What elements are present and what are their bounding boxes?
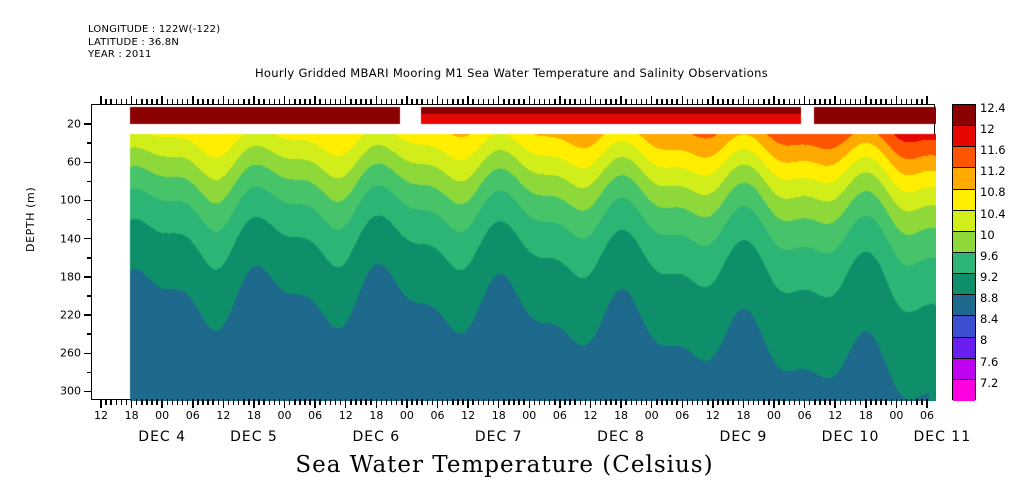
x-axis-top-tick (814, 99, 816, 105)
x-axis-top-tick (666, 99, 668, 105)
x-axis-hour-label: 06 (553, 409, 567, 422)
x-axis-tick-minor (472, 399, 474, 405)
x-axis-tick-minor (717, 399, 719, 405)
x-axis-top-tick (488, 99, 490, 105)
x-axis-hour-label: 00 (400, 409, 414, 422)
x-axis-top-tick (722, 99, 724, 105)
x-axis-tick-minor (840, 399, 842, 405)
x-axis-tick-minor (478, 399, 480, 405)
x-axis-tick-minor (661, 399, 663, 405)
x-axis-tick-minor (580, 399, 582, 405)
x-axis-hour-label: 12 (828, 409, 842, 422)
x-axis-tick-minor (350, 399, 352, 405)
x-axis-top-tick (671, 99, 673, 105)
y-axis-label: 180 (60, 270, 81, 283)
x-axis-day-label: DEC 4 (138, 429, 186, 445)
x-axis-tick-minor (427, 399, 429, 405)
x-axis-tick-minor (279, 399, 281, 405)
x-axis-top-tick (564, 99, 566, 105)
x-axis-tick-minor (891, 399, 893, 405)
x-axis-top-tick (411, 99, 413, 105)
colorbar-segment (953, 190, 975, 211)
y-axis-title: DEPTH (m) (24, 187, 37, 252)
x-axis-top-tick (819, 99, 821, 105)
y-axis-tick-major (84, 200, 92, 202)
colorbar-label: 8.8 (980, 291, 998, 305)
y-axis-tick-minor (87, 219, 92, 221)
x-axis-top-tick (269, 99, 271, 105)
x-axis-hour-label: 18 (247, 409, 261, 422)
x-axis-tick-minor (845, 399, 847, 405)
x-axis-top-tick (676, 99, 678, 105)
x-axis-tick-minor (365, 399, 367, 405)
y-axis-tick-major (84, 314, 92, 316)
x-axis-tick-major (284, 399, 286, 408)
x-axis-tick-minor (554, 399, 556, 405)
x-axis-top-tick (880, 99, 882, 105)
x-axis-day-label: DEC 11 (913, 429, 971, 445)
x-axis-tick-minor (218, 399, 220, 405)
x-axis-tick-minor (182, 399, 184, 405)
x-axis-tick-major (498, 399, 500, 408)
x-axis-top-tick (462, 99, 464, 105)
x-axis-tick-minor (666, 399, 668, 405)
x-axis-tick-minor (457, 399, 459, 405)
colorbar-label: 7.2 (980, 376, 998, 390)
x-axis-tick-minor (177, 399, 179, 405)
x-axis-day-label: DEC 6 (352, 429, 400, 445)
x-axis-top-tick (600, 99, 602, 105)
x-axis-tick-minor (508, 399, 510, 405)
x-axis-tick-minor (870, 399, 872, 405)
temperature-colorbar (952, 104, 976, 400)
x-axis-top-tick (340, 99, 342, 105)
x-axis-tick-minor (432, 399, 434, 405)
x-axis-top-tick (891, 99, 893, 105)
x-axis-hour-label: 06 (920, 409, 934, 422)
colorbar-label: 12 (980, 122, 995, 136)
x-axis-top-tick (401, 99, 403, 105)
x-axis-tick-minor (462, 399, 464, 405)
x-axis-tick-minor (503, 399, 505, 405)
chart-title-text: Hourly Gridded MBARI Mooring M1 Sea Wate… (255, 66, 768, 80)
x-axis-top-tick (727, 99, 729, 105)
x-axis-top-tick (534, 99, 536, 105)
x-axis-tick-minor (656, 399, 658, 405)
x-axis-top-tick (753, 99, 755, 105)
x-axis-tick-minor (789, 399, 791, 405)
x-axis-top-tick (702, 99, 704, 105)
x-axis-day-label: DEC 10 (822, 429, 880, 445)
x-axis-tick-major (743, 399, 745, 408)
x-axis-top-tick (656, 99, 658, 105)
x-axis-tick-minor (921, 399, 923, 405)
x-axis-top-tick (896, 96, 898, 105)
x-axis-top-tick (804, 96, 806, 105)
x-axis-tick-minor (141, 399, 143, 405)
x-axis-tick-minor (116, 399, 118, 405)
colorbar-segment (953, 105, 975, 126)
x-axis-tick-major (223, 399, 225, 408)
x-axis-tick-major (437, 399, 439, 408)
x-axis-hour-label: 18 (614, 409, 628, 422)
x-axis-top-tick (437, 96, 439, 105)
x-axis-top-tick (167, 99, 169, 105)
colorbar-segment (953, 295, 975, 316)
x-axis-tick-minor (110, 399, 112, 405)
x-axis-top-tick (156, 99, 158, 105)
x-axis-top-tick (809, 99, 811, 105)
x-axis-hour-label: 12 (706, 409, 720, 422)
x-axis-top-tick (386, 99, 388, 105)
x-axis-top-tick (625, 99, 627, 105)
x-axis-top-tick (875, 99, 877, 105)
x-axis-tick-minor (335, 399, 337, 405)
x-axis-top-tick (365, 99, 367, 105)
x-axis-top-tick (559, 96, 561, 105)
x-axis-top-tick (778, 99, 780, 105)
x-axis-tick-minor (814, 399, 816, 405)
chart-title: Hourly Gridded MBARI Mooring M1 Sea Wate… (0, 66, 1009, 80)
x-axis-hour-label: 06 (798, 409, 812, 422)
y-axis-tick-minor (87, 257, 92, 259)
x-axis-tick-minor (692, 399, 694, 405)
x-axis-tick-minor (646, 399, 648, 405)
x-axis-tick-minor (233, 399, 235, 405)
x-axis-top-tick (299, 99, 301, 105)
x-axis-top-tick (253, 96, 255, 105)
x-axis-hour-label: 00 (645, 409, 659, 422)
x-axis-top-tick (493, 99, 495, 105)
x-axis-tick-minor (768, 399, 770, 405)
x-axis-top-tick (335, 99, 337, 105)
x-axis-tick-major (620, 399, 622, 408)
x-axis-hour-label: 12 (583, 409, 597, 422)
x-axis-top-tick (687, 99, 689, 105)
x-axis-tick-minor (702, 399, 704, 405)
x-axis-tick-minor (401, 399, 403, 405)
x-axis-top-tick (503, 99, 505, 105)
x-axis-top-tick (824, 99, 826, 105)
x-axis-tick-major (253, 399, 255, 408)
x-axis-tick-minor (625, 399, 627, 405)
x-axis-tick-minor (600, 399, 602, 405)
x-axis-hour-label: 12 (461, 409, 475, 422)
x-axis-tick-minor (697, 399, 699, 405)
x-axis-tick-minor (855, 399, 857, 405)
x-axis-top-tick (243, 99, 245, 105)
x-axis-tick-minor (391, 399, 393, 405)
colorbar-label: 7.6 (980, 355, 998, 369)
y-axis-tick-minor (87, 181, 92, 183)
x-axis-top-tick (294, 99, 296, 105)
y-axis-tick-minor (87, 142, 92, 144)
x-axis-top-tick (360, 99, 362, 105)
x-axis-tick-major (406, 399, 408, 408)
colorbar-label: 10 (980, 228, 995, 242)
x-axis-tick-minor (340, 399, 342, 405)
x-axis-tick-minor (325, 399, 327, 405)
x-axis-tick-major (834, 399, 836, 408)
x-axis-tick-minor (274, 399, 276, 405)
x-axis-top-tick (161, 96, 163, 105)
x-axis-tick-minor (574, 399, 576, 405)
x-axis-top-tick (569, 99, 571, 105)
x-axis-top-tick (319, 99, 321, 105)
x-axis-day-label: DEC 7 (475, 429, 523, 445)
x-axis-tick-minor (523, 399, 525, 405)
colorbar-label: 10.8 (980, 185, 1006, 199)
x-axis-tick-minor (763, 399, 765, 405)
x-axis-tick-minor (513, 399, 515, 405)
x-axis-tick-minor (304, 399, 306, 405)
x-axis-tick-minor (269, 399, 271, 405)
x-axis-top-tick (783, 99, 785, 105)
x-axis-tick-minor (360, 399, 362, 405)
x-axis-top-tick (794, 99, 796, 105)
x-axis-day-label: DEC 9 (720, 429, 768, 445)
x-axis-top-tick (416, 99, 418, 105)
x-axis-top-tick (172, 99, 174, 105)
x-axis-tick-minor (636, 399, 638, 405)
x-axis-top-tick (452, 99, 454, 105)
x-axis-tick-minor (309, 399, 311, 405)
x-axis-top-tick (314, 96, 316, 105)
x-axis-top-tick (544, 99, 546, 105)
x-axis-top-tick (223, 96, 225, 105)
x-axis-tick-minor (126, 399, 128, 405)
x-axis-day-label: DEC 5 (230, 429, 278, 445)
longitude-text: LONGITUDE : 122W(-122) (88, 24, 220, 37)
colorbar-segment (953, 338, 975, 359)
x-axis-top-tick (192, 96, 194, 105)
y-axis-label: 220 (60, 309, 81, 322)
x-axis-top-tick (641, 99, 643, 105)
colorbar-segment (953, 211, 975, 232)
x-axis-top-tick (284, 96, 286, 105)
x-axis-top-tick (748, 99, 750, 105)
x-axis-top-tick (631, 99, 633, 105)
x-axis-top-tick (121, 99, 123, 105)
x-axis-top-tick (799, 99, 801, 105)
x-axis-top-tick (472, 99, 474, 105)
x-axis-tick-major (804, 399, 806, 408)
y-axis-tick-major (84, 353, 92, 355)
colorbar-label: 8 (980, 333, 987, 347)
x-axis-tick-minor (783, 399, 785, 405)
x-axis-tick-minor (539, 399, 541, 405)
x-axis-top-tick (870, 99, 872, 105)
x-axis-tick-minor (146, 399, 148, 405)
x-axis-tick-minor (248, 399, 250, 405)
x-axis-tick-minor (493, 399, 495, 405)
x-axis-top-tick (442, 99, 444, 105)
x-axis-hour-label: 18 (492, 409, 506, 422)
x-axis-tick-major (467, 399, 469, 408)
x-axis-top-tick (274, 99, 276, 105)
y-axis-tick-major (84, 276, 92, 278)
x-axis-tick-minor (549, 399, 551, 405)
x-axis-top-tick (743, 96, 745, 105)
x-axis-top-tick (590, 96, 592, 105)
x-axis-tick-major (865, 399, 867, 408)
x-axis-tick-minor (819, 399, 821, 405)
x-axis-tick-minor (809, 399, 811, 405)
x-axis-tick-major (712, 399, 714, 408)
x-axis-tick-minor (197, 399, 199, 405)
x-axis-tick-minor (885, 399, 887, 405)
x-axis-tick-major (590, 399, 592, 408)
x-axis-tick-minor (518, 399, 520, 405)
x-axis-tick-minor (727, 399, 729, 405)
x-axis-tick-minor (442, 399, 444, 405)
x-axis-top-tick (105, 99, 107, 105)
x-axis-top-tick (391, 99, 393, 105)
x-axis-hour-label: 06 (186, 409, 200, 422)
x-axis-tick-minor (850, 399, 852, 405)
x-axis-top-tick (855, 99, 857, 105)
x-axis-top-tick (850, 99, 852, 105)
x-axis-tick-minor (319, 399, 321, 405)
x-axis-tick-minor (569, 399, 571, 405)
x-axis-tick-minor (707, 399, 709, 405)
y-axis-tick-major (84, 391, 92, 393)
x-axis-tick-minor (829, 399, 831, 405)
colorbar-label: 11.2 (980, 164, 1006, 178)
x-axis-tick-minor (488, 399, 490, 405)
x-axis-top-tick (518, 99, 520, 105)
x-axis-tick-minor (483, 399, 485, 405)
x-axis-top-tick (136, 99, 138, 105)
y-axis-tick-major (84, 123, 92, 125)
x-axis-tick-minor (585, 399, 587, 405)
x-axis-tick-minor (447, 399, 449, 405)
x-axis-top-tick (141, 99, 143, 105)
x-axis-top-tick (396, 99, 398, 105)
x-axis-top-tick (539, 99, 541, 105)
x-axis-top-tick (182, 99, 184, 105)
x-axis-tick-minor (595, 399, 597, 405)
x-axis-tick-minor (396, 399, 398, 405)
x-axis-tick-major (314, 399, 316, 408)
x-axis-top-tick (498, 96, 500, 105)
x-axis-tick-major (161, 399, 163, 408)
colorbar-label: 8.4 (980, 312, 998, 326)
x-axis-top-tick (885, 99, 887, 105)
x-axis-tick-minor (167, 399, 169, 405)
x-axis-tick-minor (605, 399, 607, 405)
x-axis-hour-label: 12 (339, 409, 353, 422)
x-axis-tick-minor (901, 399, 903, 405)
x-axis-tick-minor (238, 399, 240, 405)
x-axis-tick-major (926, 399, 928, 408)
x-axis-tick-minor (906, 399, 908, 405)
x-axis-top-tick (100, 96, 102, 105)
x-axis-top-tick (692, 99, 694, 105)
x-axis-tick-major (896, 399, 898, 408)
x-axis-top-tick (651, 96, 653, 105)
x-axis-top-tick (258, 99, 260, 105)
x-axis-top-tick (131, 96, 133, 105)
x-axis-top-tick (916, 99, 918, 105)
x-axis-top-tick (661, 99, 663, 105)
x-axis-top-tick (585, 99, 587, 105)
x-axis-top-tick (309, 99, 311, 105)
x-axis-top-tick (212, 99, 214, 105)
x-axis-hour-label: 06 (431, 409, 445, 422)
x-axis-tick-minor (631, 399, 633, 405)
x-axis-top-tick (228, 99, 230, 105)
x-axis-top-tick (325, 99, 327, 105)
x-axis-tick-minor (243, 399, 245, 405)
x-axis-hour-label: 06 (675, 409, 689, 422)
x-axis-top-tick (763, 99, 765, 105)
x-axis-top-tick (829, 99, 831, 105)
y-axis-label: 260 (60, 347, 81, 360)
y-axis-label: 300 (60, 385, 81, 398)
x-axis-tick-minor (875, 399, 877, 405)
x-axis-tick-minor (452, 399, 454, 405)
x-axis-top-tick (549, 99, 551, 105)
x-axis-tick-minor (748, 399, 750, 405)
y-axis-label: 140 (60, 232, 81, 245)
x-axis-top-tick (712, 96, 714, 105)
x-axis-top-tick (901, 99, 903, 105)
x-axis-tick-major (100, 399, 102, 408)
x-axis-top-tick (350, 99, 352, 105)
x-axis-tick-minor (330, 399, 332, 405)
colorbar-label: 11.6 (980, 143, 1006, 157)
x-axis-top-tick (554, 99, 556, 105)
x-axis-top-tick (304, 99, 306, 105)
x-axis-tick-minor (911, 399, 913, 405)
x-axis-tick-major (131, 399, 133, 408)
x-axis-top-tick (717, 99, 719, 105)
x-axis-tick-minor (544, 399, 546, 405)
y-axis-label: 60 (67, 156, 81, 169)
x-axis-hour-label: 00 (155, 409, 169, 422)
x-axis-tick-minor (799, 399, 801, 405)
x-axis-tick-minor (610, 399, 612, 405)
colorbar-label: 12.4 (980, 101, 1006, 115)
x-axis-top-tick (478, 99, 480, 105)
x-axis-tick-major (773, 399, 775, 408)
x-axis-hour-label: 00 (278, 409, 292, 422)
x-axis-top-tick (207, 99, 209, 105)
x-axis-top-tick (151, 99, 153, 105)
x-axis-tick-minor (794, 399, 796, 405)
x-axis-top-tick (865, 96, 867, 105)
x-axis-tick-minor (641, 399, 643, 405)
colorbar-segment (953, 316, 975, 337)
x-axis-top-tick (738, 99, 740, 105)
year-text: YEAR : 2011 (88, 49, 220, 62)
colorbar-label: 10.4 (980, 207, 1006, 221)
x-axis-top-tick (860, 99, 862, 105)
x-axis-tick-minor (758, 399, 760, 405)
y-axis-tick-minor (87, 295, 92, 297)
x-axis-tick-minor (916, 399, 918, 405)
x-axis-hour-label: 18 (736, 409, 750, 422)
x-axis-tick-minor (421, 399, 423, 405)
x-axis-tick-major (376, 399, 378, 408)
x-axis-top-tick (263, 99, 265, 105)
x-axis-tick-minor (370, 399, 372, 405)
x-axis-top-tick (605, 99, 607, 105)
x-axis-top-tick (406, 96, 408, 105)
latitude-text: LATITUDE : 36.8N (88, 37, 220, 50)
x-axis-tick-minor (187, 399, 189, 405)
